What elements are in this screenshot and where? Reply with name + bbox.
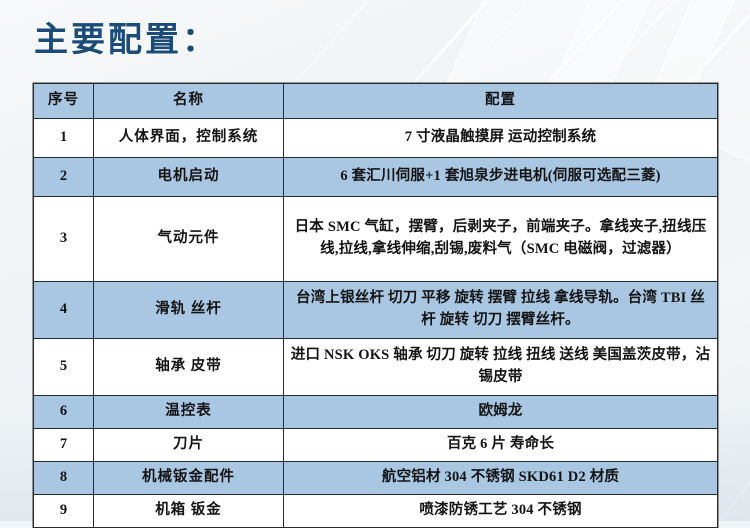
row-config: 台湾上银丝杆 切刀 平移 旋转 摆臂 拉线 拿线导轨。台湾 TBI 丝杆 旋转 … — [284, 282, 718, 339]
table-row: 3 气动元件 日本 SMC 气缸，摆臂，后剥夹子，前端夹子。拿线夹子,扭线压线,… — [34, 197, 718, 282]
row-config: 7 寸液晶触摸屏 运动控制系统 — [284, 119, 718, 158]
page-title: 主要配置： — [34, 20, 219, 63]
row-name: 气动元件 — [94, 197, 284, 282]
row-config: 进口 NSK OKS 轴承 切刀 旋转 拉线 扭线 送线 美国盖茨皮带，沾锡皮带 — [284, 339, 718, 396]
row-no: 8 — [34, 462, 94, 495]
row-config: 6 套汇川伺服+1 套旭泉步进电机(伺服可选配三菱) — [284, 158, 718, 197]
row-no: 9 — [34, 495, 94, 528]
table-row: 1 人体界面，控制系统 7 寸液晶触摸屏 运动控制系统 — [34, 119, 718, 158]
row-name: 温控表 — [94, 396, 284, 429]
row-no: 2 — [34, 158, 94, 197]
row-name: 电机启动 — [94, 158, 284, 197]
spec-table-container: 序号 名称 配置 1 人体界面，控制系统 7 寸液晶触摸屏 运动控制系统 2 电… — [33, 83, 718, 528]
specification-table: 序号 名称 配置 1 人体界面，控制系统 7 寸液晶触摸屏 运动控制系统 2 电… — [33, 83, 718, 528]
row-no: 5 — [34, 339, 94, 396]
table-body: 1 人体界面，控制系统 7 寸液晶触摸屏 运动控制系统 2 电机启动 6 套汇川… — [34, 119, 718, 528]
table-header-row: 序号 名称 配置 — [34, 84, 718, 119]
table-row: 2 电机启动 6 套汇川伺服+1 套旭泉步进电机(伺服可选配三菱) — [34, 158, 718, 197]
row-no: 3 — [34, 197, 94, 282]
table-row: 4 滑轨 丝杆 台湾上银丝杆 切刀 平移 旋转 摆臂 拉线 拿线导轨。台湾 TB… — [34, 282, 718, 339]
row-config: 航空铝材 304 不锈钢 SKD61 D2 材质 — [284, 462, 718, 495]
row-no: 4 — [34, 282, 94, 339]
row-name: 轴承 皮带 — [94, 339, 284, 396]
row-config: 百克 6 片 寿命长 — [284, 429, 718, 462]
row-name: 滑轨 丝杆 — [94, 282, 284, 339]
row-config: 欧姆龙 — [284, 396, 718, 429]
table-row: 5 轴承 皮带 进口 NSK OKS 轴承 切刀 旋转 拉线 扭线 送线 美国盖… — [34, 339, 718, 396]
row-config: 喷漆防锈工艺 304 不锈钢 — [284, 495, 718, 528]
row-config: 日本 SMC 气缸，摆臂，后剥夹子，前端夹子。拿线夹子,扭线压线,拉线,拿线伸缩… — [284, 197, 718, 282]
row-no: 7 — [34, 429, 94, 462]
row-name: 机械钣金配件 — [94, 462, 284, 495]
table-row: 9 机箱 钣金 喷漆防锈工艺 304 不锈钢 — [34, 495, 718, 528]
row-no: 1 — [34, 119, 94, 158]
bg-streak-6 — [282, 0, 417, 96]
row-name: 机箱 钣金 — [94, 495, 284, 528]
row-name: 人体界面，控制系统 — [94, 119, 284, 158]
column-header-no: 序号 — [34, 84, 94, 119]
table-row: 7 刀片 百克 6 片 寿命长 — [34, 429, 718, 462]
column-header-config: 配置 — [284, 84, 718, 119]
table-row: 8 机械钣金配件 航空铝材 304 不锈钢 SKD61 D2 材质 — [34, 462, 718, 495]
table-header: 序号 名称 配置 — [34, 84, 718, 119]
row-name: 刀片 — [94, 429, 284, 462]
column-header-name: 名称 — [94, 84, 284, 119]
table-row: 6 温控表 欧姆龙 — [34, 396, 718, 429]
row-no: 6 — [34, 396, 94, 429]
